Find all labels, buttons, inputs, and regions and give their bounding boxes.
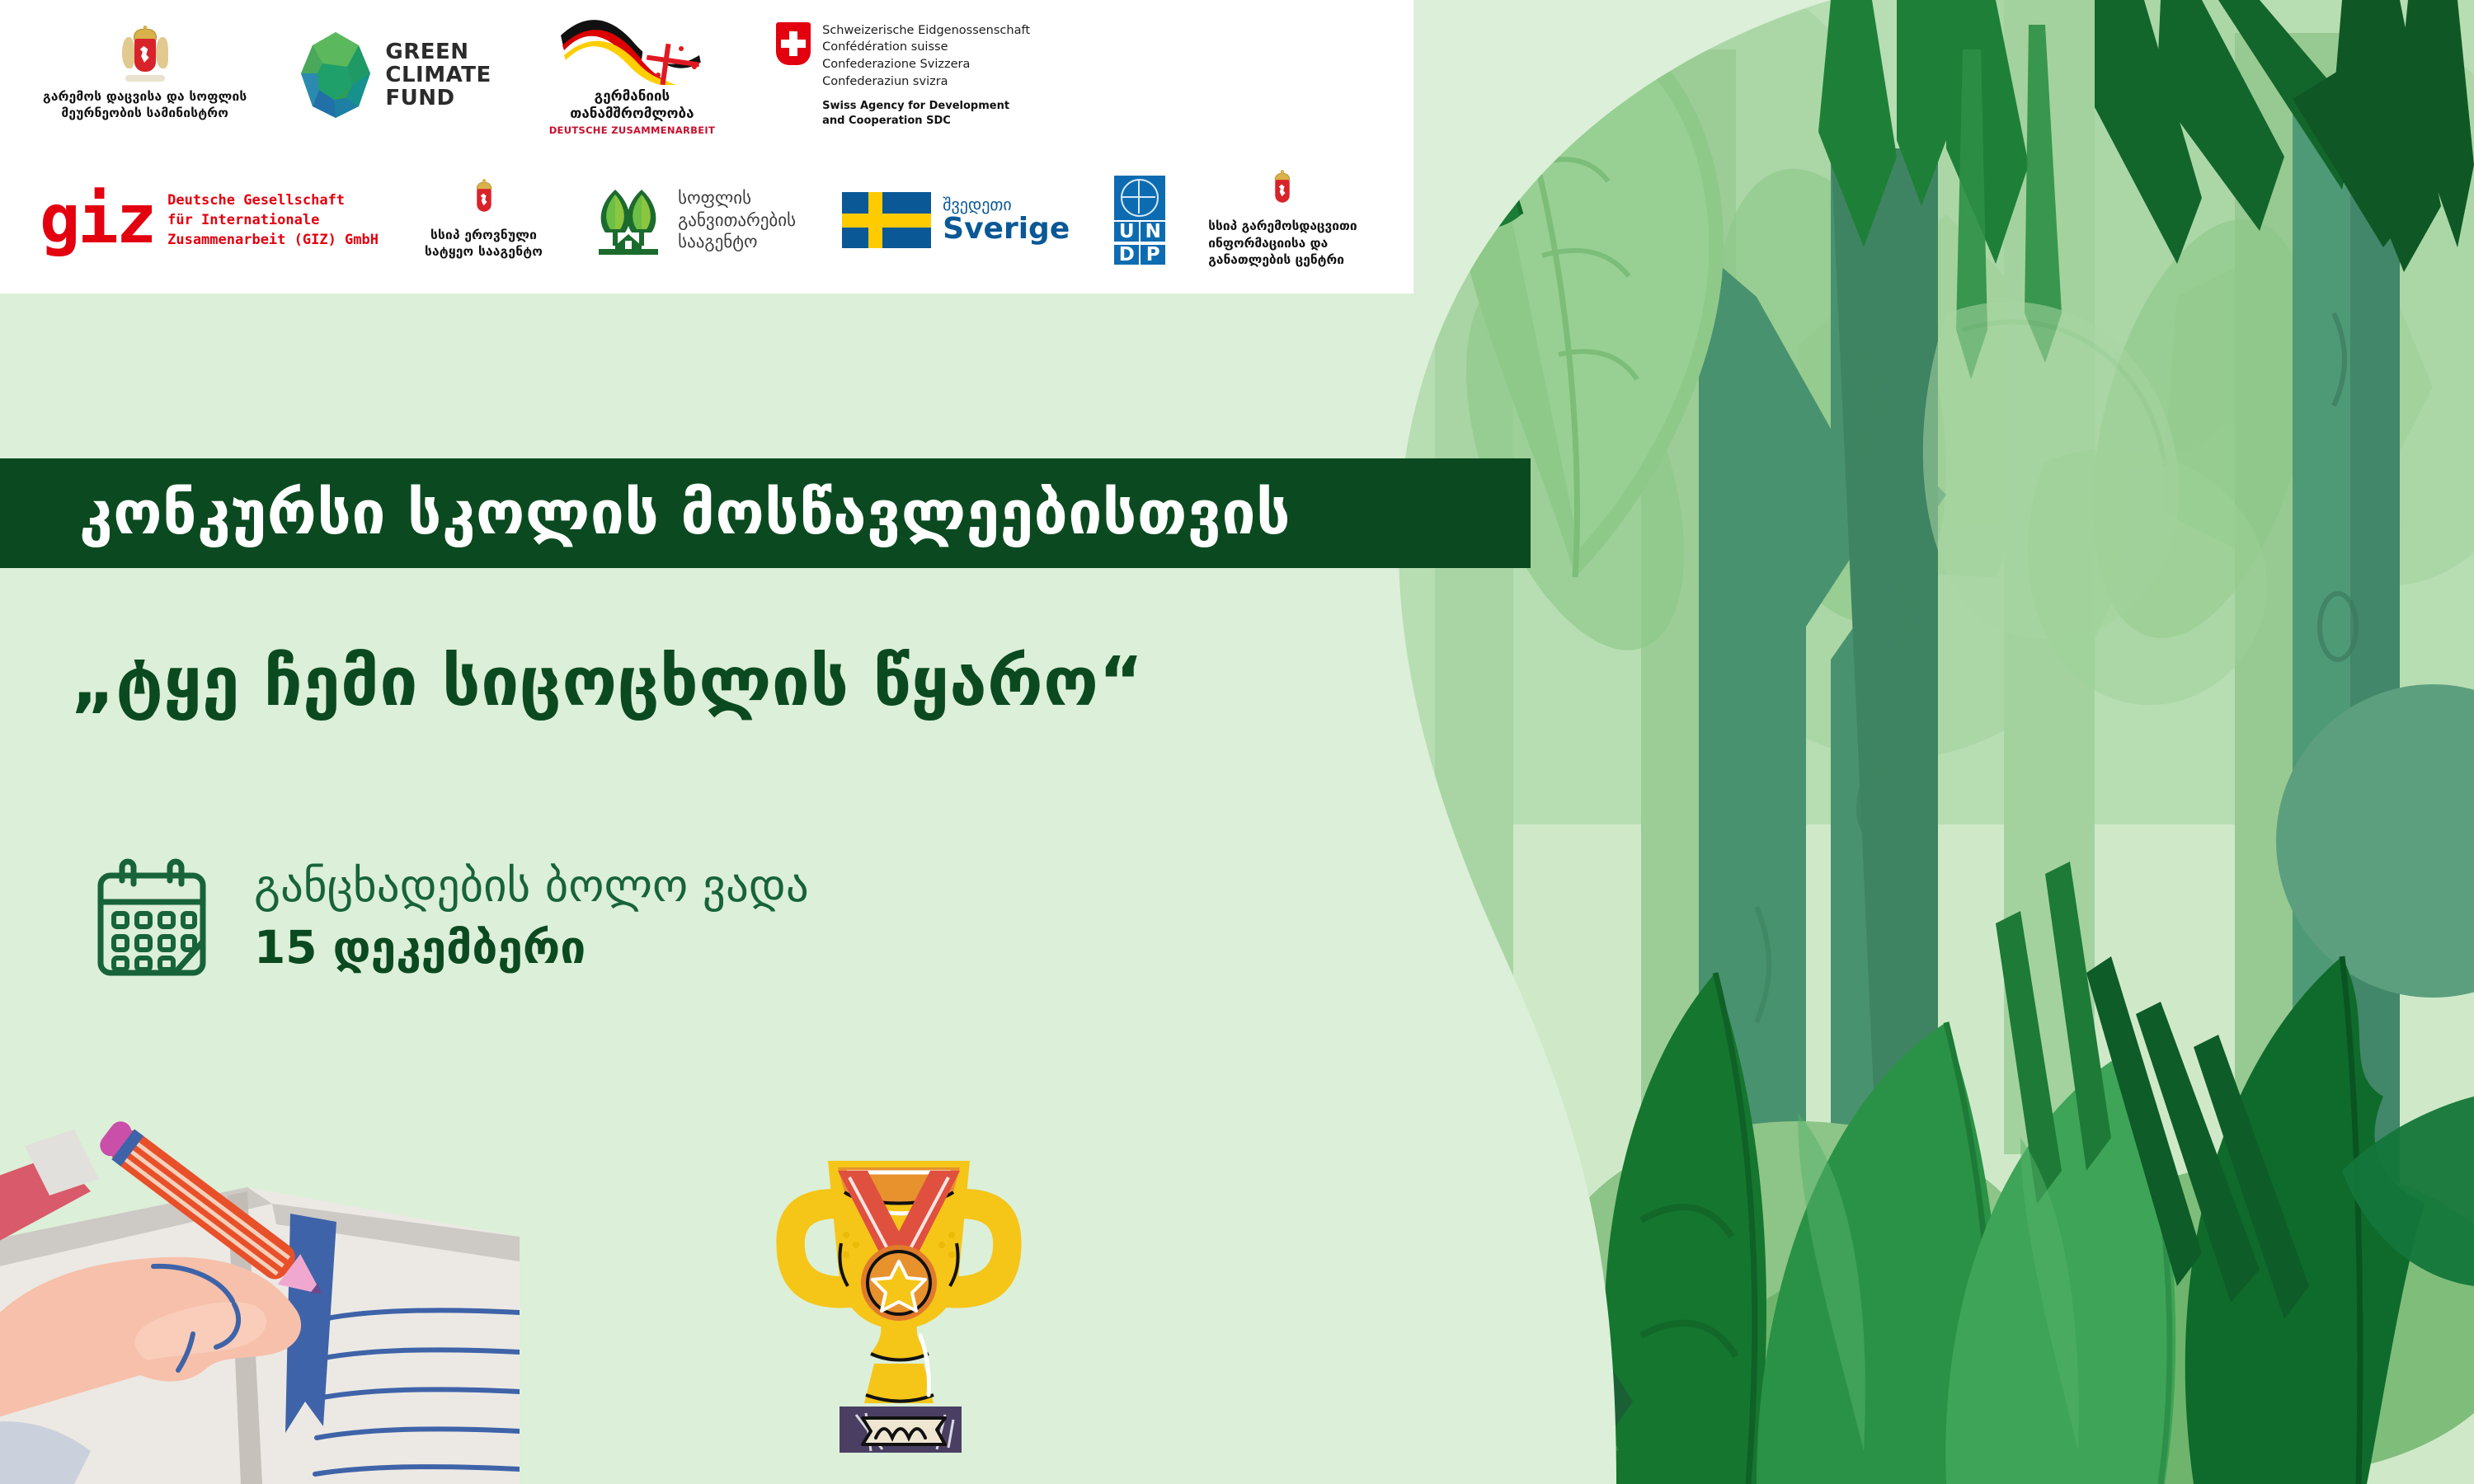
page-title: კონკურსი სკოლის მოსწავლეებისთვის (79, 478, 1291, 548)
deadline-label: განცხადების ბოლო ვადა (254, 861, 809, 912)
ministry-caption-line2: მეურნეობის სამინისტრო (43, 105, 247, 121)
georgia-shield-icon (1270, 173, 1296, 208)
sponsor-logo-header: გარემოს დაცვისა და სოფლის მეურნეობის სამ… (0, 0, 1412, 294)
undp-letter-p: P (1141, 245, 1165, 265)
swiss-lang-line4: Confederaziun svizra (822, 73, 1030, 91)
eic-caption-line2: ინფორმაციისა და (1208, 235, 1357, 251)
swiss-lang-line2: Confédération suisse (822, 39, 1030, 56)
rda-caption-line1: სოფლის (678, 187, 796, 209)
giz-line3: Zusammenarbeit (GIZ) GmbH (167, 230, 379, 250)
swiss-bold-line1: Swiss Agency for Development (822, 99, 1030, 114)
nfa-caption-line1: სსიპ ეროვნული (425, 227, 543, 243)
giz-line1: Deutsche Gesellschaft (167, 190, 379, 210)
swiss-lang-line3: Confederazione Svizzera (822, 56, 1030, 73)
un-globe-icon (1114, 176, 1165, 220)
logo-rural-development-agency: სოფლის განვითარების სააგენტო (590, 185, 796, 256)
german-subcaption: DEUTSCHE ZUSAMMENARBEIT (549, 124, 715, 136)
tree-house-icon (590, 185, 666, 256)
gcf-line3: FUND (385, 87, 491, 110)
ministry-caption-line1: გარემოს დაცვისა და სოფლის (43, 88, 247, 105)
contest-theme-subtitle: „ტყე ჩემი სიცოცხლის წყარო“ (71, 643, 1144, 721)
swiss-lang-line1: Schweizerische Eidgenossenschaft (822, 22, 1030, 40)
poster-canvas: გარემოს დაცვისა და სოფლის მეურნეობის სამ… (0, 0, 2474, 1484)
giz-line2: für Internationale (167, 210, 379, 230)
gcf-gem-icon (298, 31, 374, 120)
german-caption-line2: თანამშრომლობა (570, 106, 694, 122)
headline-band: კონკურსი სკოლის მოსწავლეებისთვის (0, 458, 1531, 568)
logo-sweden: შვედეთი Sverige (842, 192, 1070, 248)
logo-undp: U N D P (1114, 176, 1165, 265)
undp-letter-u: U (1114, 222, 1139, 242)
gcf-line2: CLIMATE (385, 63, 491, 87)
logo-ministry-of-environment: გარემოს დაცვისა და სოფლის მეურნეობის სამ… (43, 29, 247, 121)
nfa-caption-line2: სატყეო სააგენტო (425, 243, 543, 260)
sweden-caption-en: Sverige (943, 214, 1070, 245)
rda-caption-line3: სააგენტო (678, 231, 796, 252)
logo-german-cooperation: გერმანიის თანამშრომლობა DEUTSCHE ZUSAMME… (549, 14, 715, 135)
trophy-award-illustration (759, 1138, 1039, 1484)
sweden-caption-ka: შვედეთი (943, 195, 1070, 214)
rda-caption-line2: განვითარების (678, 209, 796, 231)
sweden-flag-icon (842, 192, 931, 248)
forest-background-illustration (1369, 0, 2474, 1484)
calendar-icon (89, 856, 214, 981)
georgia-shield-icon (471, 182, 496, 217)
georgia-coat-of-arms-icon (122, 29, 168, 82)
undp-letter-d: D (1114, 245, 1139, 265)
logo-giz: giz Deutsche Gesellschaft für Internatio… (40, 190, 379, 250)
logo-swiss-sdc: Schweizerische Eidgenossenschaft Confédé… (776, 22, 1030, 128)
eic-caption-line1: სსიპ გარემოსდაცვითი (1208, 218, 1357, 234)
logo-national-forestry-agency: სსიპ ეროვნული სატყეო სააგენტო (425, 181, 543, 260)
undp-letter-n: N (1141, 222, 1165, 242)
undp-logo-block: U N D P (1114, 176, 1165, 265)
giz-wordmark: giz (40, 194, 154, 247)
hand-writing-in-notebook-illustration (0, 1039, 520, 1484)
deadline-date: 15 დეკემბერი (254, 920, 809, 974)
german-caption-line1: გერმანიის (570, 88, 694, 105)
logo-green-climate-fund: GREEN CLIMATE FUND (298, 31, 491, 120)
eic-caption-line3: განათლების ცენტრი (1208, 251, 1357, 268)
deadline-block: განცხადების ბოლო ვადა 15 დეკემბერი (89, 856, 809, 981)
swiss-cross-shield-icon (776, 22, 811, 65)
swiss-bold-line2: and Cooperation SDC (822, 114, 1030, 129)
gcf-line1: GREEN (385, 40, 491, 63)
german-georgian-flag-ribbon-icon (557, 14, 706, 85)
logo-environmental-information-centre: სსიპ გარემოსდაცვითი ინფორმაციისა და განა… (1208, 171, 1357, 268)
